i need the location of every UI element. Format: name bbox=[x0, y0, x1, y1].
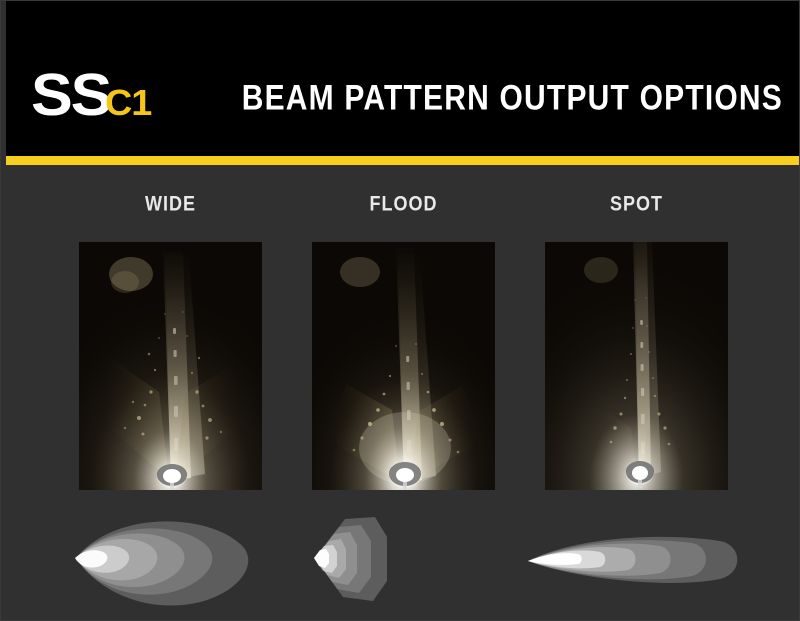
beam-label-spot: SPOT bbox=[520, 192, 753, 216]
content-area: WIDE bbox=[6, 165, 800, 621]
beam-diagram-spot bbox=[520, 503, 753, 613]
logo-suffix-text: C1 bbox=[105, 85, 151, 121]
beam-photo-spot bbox=[545, 242, 728, 490]
header-bar: SS C1 BEAM PATTERN OUTPUT OPTIONS bbox=[6, 1, 800, 156]
beam-photo-wide bbox=[79, 242, 262, 490]
page-title: BEAM PATTERN OUTPUT OPTIONS bbox=[242, 79, 783, 119]
beam-diagram-wide bbox=[54, 503, 287, 613]
product-logo: SS C1 bbox=[31, 67, 149, 131]
beam-pattern-infographic: SS C1 BEAM PATTERN OUTPUT OPTIONS WIDE bbox=[0, 0, 800, 621]
beam-photo-flood bbox=[312, 242, 495, 490]
beam-diagram-flood bbox=[287, 503, 520, 613]
accent-divider-bar bbox=[6, 156, 800, 165]
beam-label-flood: FLOOD bbox=[287, 192, 520, 216]
logo-primary-text: SS bbox=[31, 66, 110, 125]
beam-label-wide: WIDE bbox=[54, 192, 287, 216]
